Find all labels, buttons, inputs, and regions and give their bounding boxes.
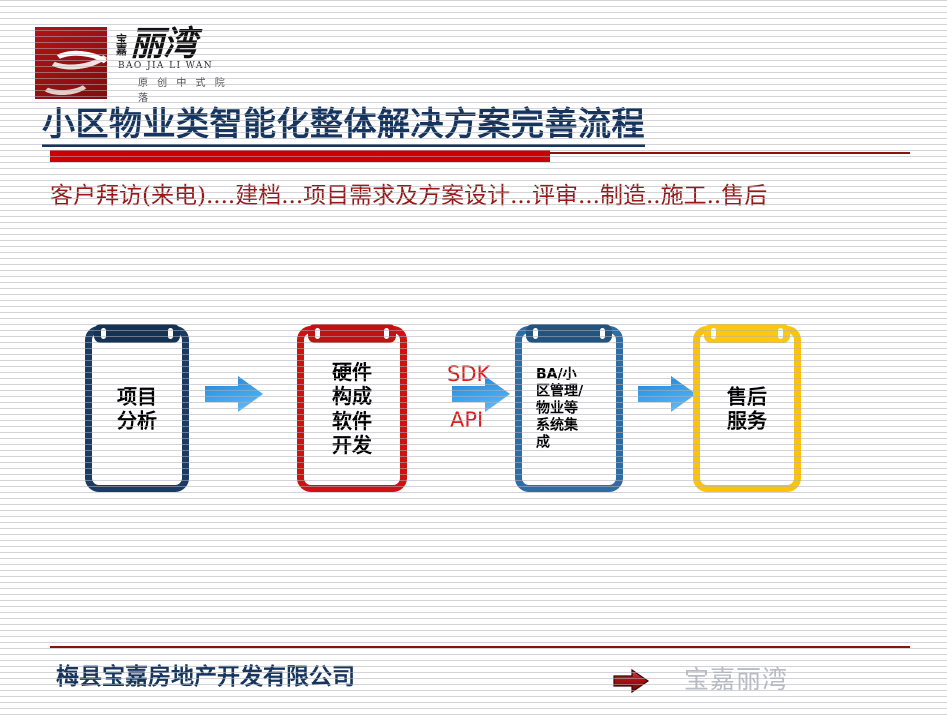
footer-rule: [50, 646, 910, 648]
flow-box-label: 项目 分析: [92, 385, 182, 434]
footer-brand: 宝嘉丽湾: [684, 660, 788, 696]
connector-label-api: API: [450, 408, 483, 432]
flow-arrow-3-icon: [638, 374, 696, 414]
footer-company-name: 梅县宝嘉房地产开发有限公司: [56, 657, 355, 691]
flow-box-after-sales[interactable]: 售后 服务: [693, 326, 801, 492]
flow-box-label: 硬件 构成 软件 开发: [304, 360, 400, 458]
slide-canvas: 宝 嘉 丽湾 BAO JIA LI WAN 原 创 中 式 院 落 小区物业类智…: [0, 0, 947, 717]
flow-arrow-1-icon: [205, 374, 263, 414]
flow-box-label: BA/小 区管理/ 物业等 系统集 成: [522, 366, 616, 451]
flow-box-system-integration[interactable]: BA/小 区管理/ 物业等 系统集 成: [515, 326, 623, 492]
clipboard-clip-icon: [308, 324, 396, 343]
clipboard-clip-icon: [526, 324, 612, 343]
clipboard-clip-icon: [704, 324, 790, 343]
flow-box-hardware-software[interactable]: 硬件 构成 软件 开发: [297, 326, 407, 492]
footer-arrow-icon: [612, 668, 650, 694]
flow-diagram: 项目 分析 硬件 构成 软件 开发 SDK: [0, 0, 947, 717]
flow-box-label: 售后 服务: [700, 385, 794, 434]
flow-box-project-analysis[interactable]: 项目 分析: [85, 326, 189, 492]
clipboard-clip-icon: [94, 324, 180, 343]
